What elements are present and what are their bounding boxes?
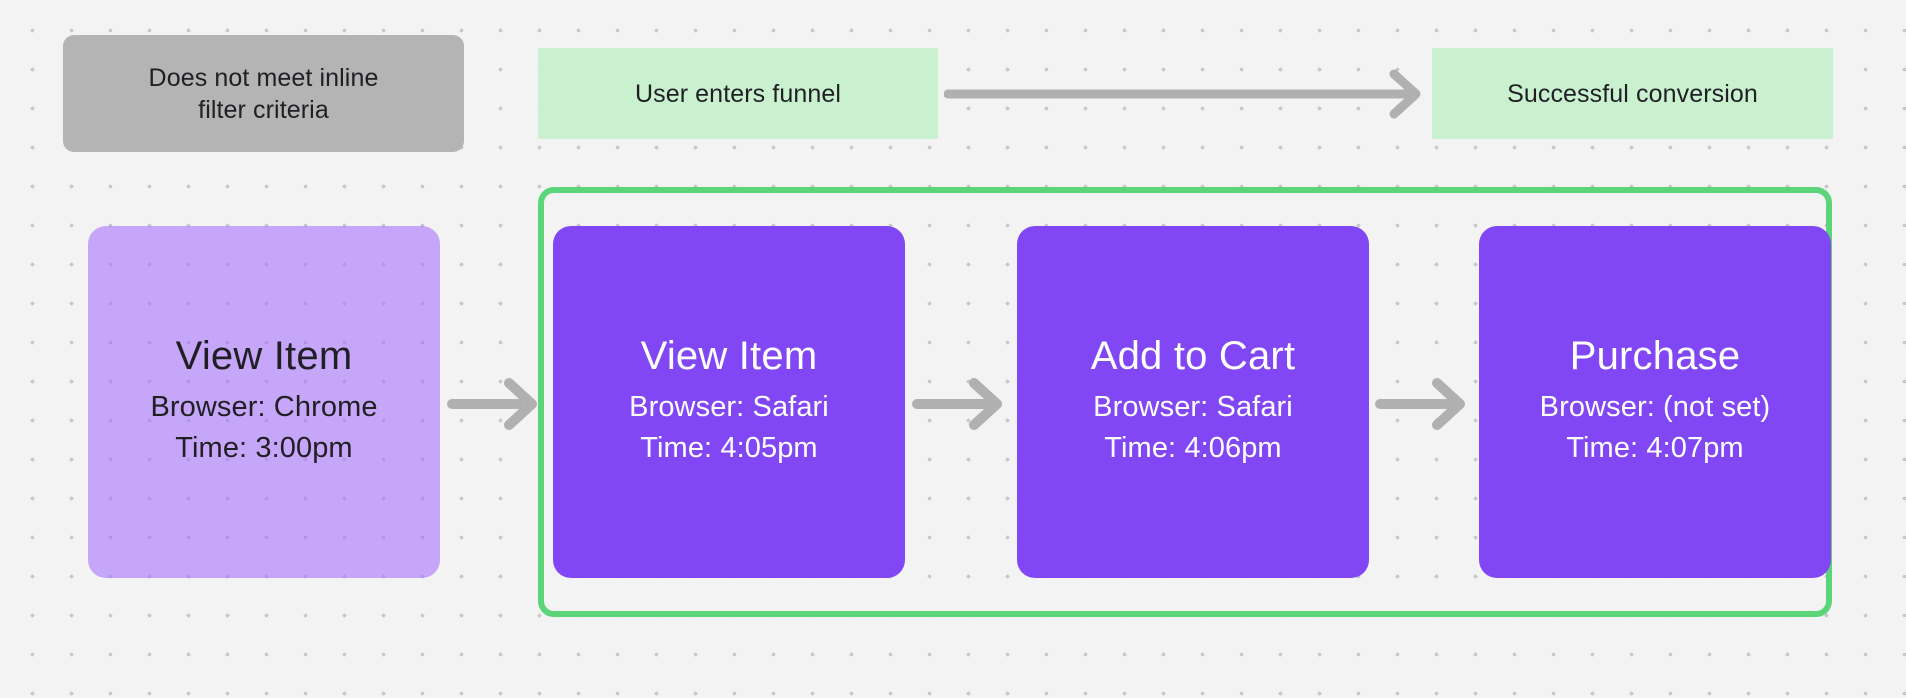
step-arrow-icon-3 bbox=[1375, 376, 1471, 432]
event-card-view-item-safari[interactable]: View Item Browser: Safari Time: 4:05pm bbox=[553, 226, 905, 578]
event-card-browser: Browser: (not set) bbox=[1540, 387, 1771, 428]
legend-successful-conversion: Successful conversion bbox=[1432, 48, 1833, 139]
event-card-title: Add to Cart bbox=[1091, 334, 1296, 379]
event-card-time: Time: 3:00pm bbox=[175, 428, 352, 469]
legend-does-not-meet-filter-criteria: Does not meet inline filter criteria bbox=[63, 35, 464, 152]
event-card-time: Time: 4:05pm bbox=[640, 428, 817, 469]
event-card-title: View Item bbox=[176, 334, 353, 379]
step-arrow-icon-1 bbox=[447, 376, 543, 432]
legend-user-enters-funnel: User enters funnel bbox=[538, 48, 938, 139]
legend-flow-arrow-icon bbox=[944, 68, 1426, 120]
event-card-browser: Browser: Safari bbox=[629, 387, 829, 428]
event-card-time: Time: 4:07pm bbox=[1566, 428, 1743, 469]
event-card-browser: Browser: Chrome bbox=[150, 387, 377, 428]
event-card-add-to-cart[interactable]: Add to Cart Browser: Safari Time: 4:06pm bbox=[1017, 226, 1369, 578]
event-card-time: Time: 4:06pm bbox=[1104, 428, 1281, 469]
event-card-purchase[interactable]: Purchase Browser: (not set) Time: 4:07pm bbox=[1479, 226, 1831, 578]
event-card-title: Purchase bbox=[1570, 334, 1741, 379]
event-card-browser: Browser: Safari bbox=[1093, 387, 1293, 428]
diagram-canvas: Does not meet inline filter criteria Use… bbox=[0, 0, 1906, 698]
step-arrow-icon-2 bbox=[912, 376, 1008, 432]
legend-excluded-label: Does not meet inline filter criteria bbox=[149, 62, 379, 126]
legend-excluded-line1: Does not meet inline bbox=[149, 64, 379, 92]
event-card-view-item-chrome[interactable]: View Item Browser: Chrome Time: 3:00pm bbox=[88, 226, 440, 578]
event-card-title: View Item bbox=[641, 334, 818, 379]
legend-excluded-line2: filter criteria bbox=[198, 96, 329, 124]
